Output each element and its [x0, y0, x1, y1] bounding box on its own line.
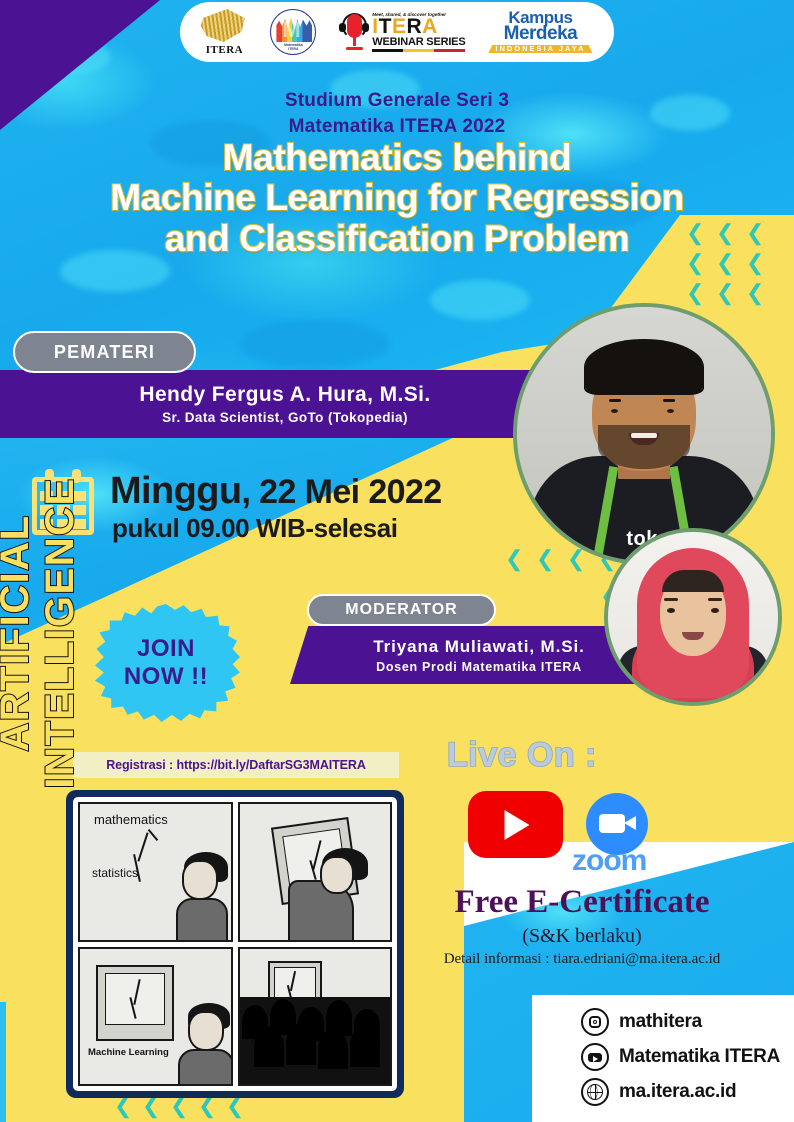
- itera-logo: ITERA: [201, 9, 247, 56]
- moderator-band: Triyana Muliawati, M.Si. Dosen Prodi Mat…: [290, 626, 656, 684]
- certificate-note: (S&K berlaku): [0, 925, 794, 948]
- comic-audience: [240, 997, 391, 1084]
- event-date: Minggu, 22 Mei 2022: [110, 470, 442, 513]
- social-row-youtube[interactable]: Matematika ITERA: [581, 1043, 780, 1071]
- speaker-role: Sr. Data Scientist, GoTo (Tokopedia): [162, 410, 408, 425]
- moderator-photo: [604, 528, 782, 706]
- certificate-contact: Detail informasi : tiara.edriani@ma.iter…: [0, 951, 794, 968]
- join-now-line2: NOW !!: [124, 663, 208, 691]
- subtitle-line2: Matematika ITERA 2022: [0, 114, 794, 140]
- kampus-merdeka-logo: Kampus Merdeka INDONESIA JAYA: [488, 11, 592, 53]
- title-line1: Mathematics behind: [0, 138, 794, 178]
- matematika-logo-caption: Matematika ITERA: [271, 43, 315, 52]
- comic-label-mathematics: mathematics: [94, 812, 168, 827]
- side-vertical-text: ARTIFICIAL INTELLIGENCE: [0, 373, 83, 893]
- speaker-photo: toko: [513, 303, 775, 565]
- zoom-label: zoom: [572, 844, 646, 878]
- logo-bar: ITERA M Matematika ITERA Meet, shared, &…: [180, 2, 614, 62]
- matematika-letter-m: M: [282, 17, 300, 43]
- event-date-value: , 22 Mei 2022: [241, 473, 441, 511]
- poster-root: ❮❮❮ ❮❮❮ ❮❮❮ ❮❮❮ ❮❮❮ ❮❮❮ ❮❮❮ ❮❮❮ ❮❮ ITERA…: [0, 0, 794, 1122]
- chevron-decoration-bottom-left: ❮❮❮ ❮❮: [114, 1095, 254, 1117]
- comic-label-statistics: statistics: [92, 866, 138, 880]
- youtube-logo[interactable]: [468, 791, 563, 858]
- social-label-youtube: Matematika ITERA: [619, 1046, 780, 1068]
- kampus-merdeka-line2: Merdeka: [504, 26, 578, 43]
- kampus-merdeka-line3: INDONESIA JAYA: [488, 45, 592, 54]
- social-label-instagram: mathitera: [619, 1011, 702, 1033]
- join-now-line1: JOIN: [137, 635, 195, 663]
- microphone-icon: [339, 12, 369, 52]
- social-row-website[interactable]: ma.itera.ac.id: [581, 1078, 780, 1106]
- event-time: pukul 09.00 WIB-selesai: [112, 513, 398, 544]
- social-label-website: ma.itera.ac.id: [619, 1081, 736, 1103]
- background-blue-left-strip: [0, 1002, 6, 1122]
- moderator-name: Triyana Muliawati, M.Si.: [373, 637, 584, 657]
- subtitle-line1: Studium Generale Seri 3: [0, 88, 794, 114]
- moderator-role: Dosen Prodi Matematika ITERA: [376, 660, 582, 674]
- title-line2: Machine Learning for Regression: [0, 178, 794, 218]
- moderator-badge: MODERATOR: [307, 594, 496, 626]
- itera-webinar-series-logo: Meet, shared, & discover together ITERA …: [339, 12, 465, 52]
- speaker-name: Hendy Fergus A. Hura, M.Si.: [139, 383, 430, 407]
- speaker-badge: PEMATERI: [13, 331, 196, 373]
- event-day: Minggu: [110, 470, 241, 512]
- comic-label-machine-learning: Machine Learning: [88, 1047, 169, 1058]
- live-on-heading: Live On :: [447, 736, 597, 775]
- moderator-badge-label: MODERATOR: [345, 601, 457, 619]
- event-subtitle: Studium Generale Seri 3 Matematika ITERA…: [0, 88, 794, 139]
- webinar-series-word: WEBINAR SERIES: [372, 37, 465, 48]
- registration-link-box[interactable]: Registrasi : https://bit.ly/DaftarSG3MAI…: [73, 752, 399, 778]
- instagram-icon: [581, 1008, 609, 1036]
- itera-logo-label: ITERA: [206, 44, 243, 56]
- matematika-caption-line2: ITERA: [271, 47, 315, 51]
- speaker-badge-label: PEMATERI: [54, 342, 155, 363]
- globe-icon: [581, 1078, 609, 1106]
- matematika-itera-logo: M Matematika ITERA: [270, 9, 316, 55]
- title-line3: and Classification Problem: [0, 219, 794, 259]
- social-row-instagram[interactable]: mathitera: [581, 1008, 780, 1036]
- itera-map-icon: [199, 5, 249, 45]
- event-title: Mathematics behind Machine Learning for …: [0, 138, 794, 259]
- registration-link-text: Registrasi : https://bit.ly/DaftarSG3MAI…: [106, 758, 366, 772]
- youtube-icon: [581, 1043, 609, 1071]
- webinar-color-rule: [372, 49, 465, 52]
- social-links: mathitera Matematika ITERA ma.itera.ac.i…: [581, 1008, 780, 1106]
- certificate-title: Free E-Certificate: [0, 884, 794, 921]
- webinar-itera-word: ITERA: [372, 17, 438, 36]
